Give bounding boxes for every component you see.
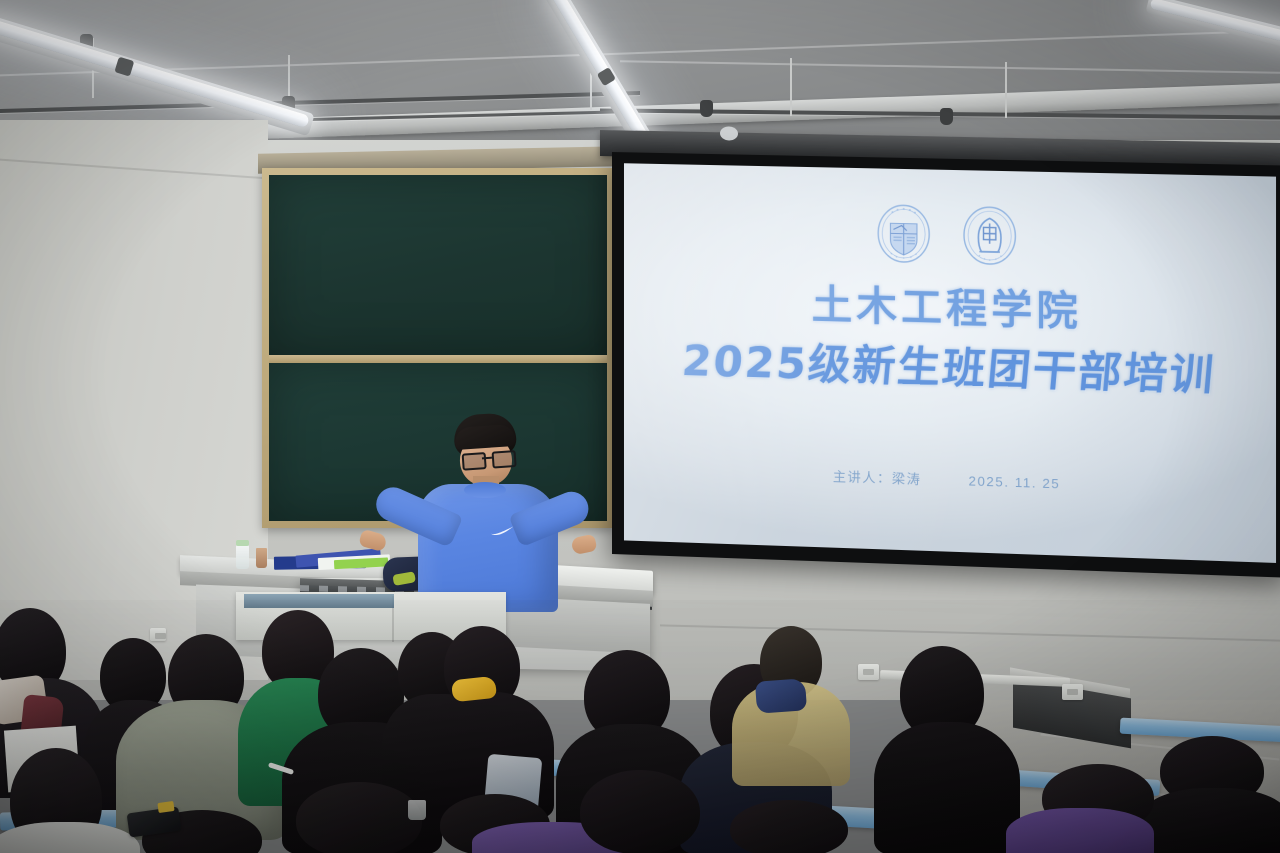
bottle-cap <box>236 540 249 546</box>
presenter-speaker <box>378 414 588 614</box>
nike-swoosh-icon <box>490 522 514 531</box>
slide-title-line1: 土木工程学院 <box>624 279 1276 338</box>
youth-league-emblem-logo <box>961 205 1016 267</box>
presenter-fringe <box>454 424 515 450</box>
sweatshirt-collar <box>464 482 506 498</box>
screen-roller-knob <box>720 126 738 140</box>
ceiling-hook <box>700 100 713 117</box>
slide-date: 2025. 11. 25 <box>968 473 1060 491</box>
youth-league-emblem-svg <box>961 205 1016 267</box>
ceiling-rod <box>1005 62 1007 118</box>
attendee-head <box>730 800 848 853</box>
glasses-lens-right <box>492 450 517 469</box>
eyeglasses-icon <box>462 450 513 466</box>
attendee-purple-jacket <box>1006 808 1154 853</box>
wall-socket <box>858 664 879 680</box>
projection-screen-surface: 土木工程学院 2025级新生班团干部培训 主讲人：梁涛 2025. 11. 25 <box>624 163 1276 563</box>
attendee-black-jacket <box>874 722 1020 853</box>
ceiling-rod <box>790 58 792 116</box>
audience-area <box>0 596 1280 853</box>
slide-title-line2: 2025级新生班团干部培训 <box>622 337 1278 400</box>
attendee-head <box>296 782 422 853</box>
wall-socket <box>150 628 166 641</box>
chalkboard-divider <box>269 355 607 363</box>
classroom-photo-scene: 土木工程学院 2025级新生班团干部培训 主讲人：梁涛 2025. 11. 25 <box>0 0 1280 853</box>
paper-cup <box>256 548 267 568</box>
nike-swoosh-svg <box>490 526 514 535</box>
attendee-head <box>580 770 700 853</box>
glasses-bridge <box>482 457 492 460</box>
attendee-navy-scarf <box>755 678 807 713</box>
wall-cabinet-glass <box>244 594 394 608</box>
yellow-scarf <box>451 676 497 702</box>
chalkboard-panel-upper <box>269 175 607 355</box>
water-cup <box>408 800 426 820</box>
presentation-slide: 土木工程学院 2025级新生班团干部培训 主讲人：梁涛 2025. 11. 25 <box>624 163 1276 563</box>
slide-logos <box>876 203 1017 267</box>
wall-socket <box>1062 684 1083 700</box>
slide-title-block: 土木工程学院 2025级新生班团干部培训 <box>624 279 1276 400</box>
ceiling-hook <box>940 108 953 125</box>
slide-presenter-label: 主讲人：梁涛 <box>833 466 922 488</box>
attendee-list-item <box>1140 788 1280 853</box>
water-bottle <box>236 545 249 569</box>
slide-footer: 主讲人：梁涛 2025. 11. 25 <box>624 459 1276 499</box>
projection-screen: 土木工程学院 2025级新生班团干部培训 主讲人：梁涛 2025. 11. 25 <box>612 152 1280 578</box>
university-seal-logo <box>876 203 931 265</box>
glasses-lens-left <box>462 452 487 471</box>
university-seal-svg <box>876 203 931 265</box>
